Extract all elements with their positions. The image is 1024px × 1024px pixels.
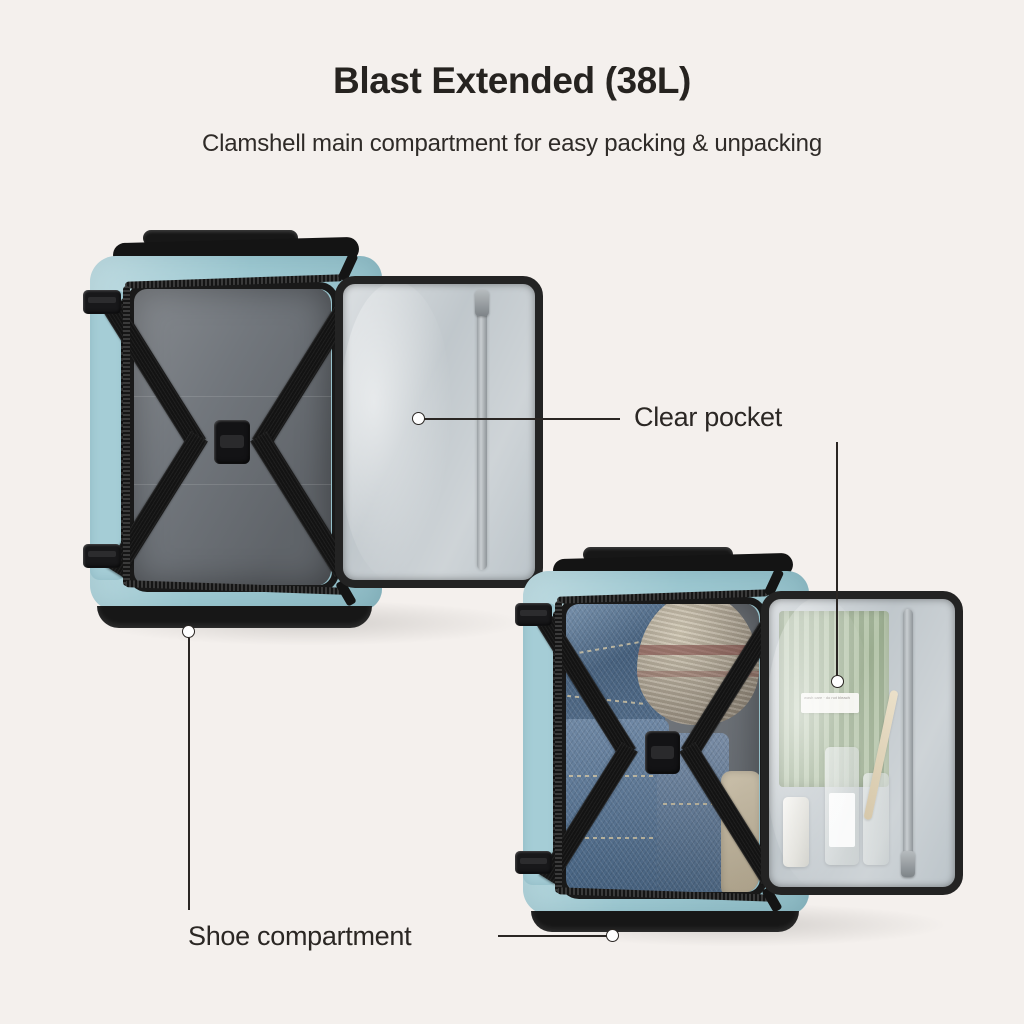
shoe-compartment[interactable] bbox=[531, 911, 799, 932]
bag-left-empty bbox=[85, 228, 540, 643]
compression-buckle-top-left[interactable] bbox=[83, 290, 121, 314]
clear-pocket-zipper[interactable] bbox=[903, 609, 913, 877]
shoe-compartment[interactable] bbox=[97, 606, 372, 628]
clear-pocket-leader-line-vertical bbox=[836, 442, 838, 682]
clear-pocket-zipper[interactable] bbox=[477, 296, 487, 570]
main-zipper-teeth-left[interactable] bbox=[123, 286, 130, 586]
callout-label-clear-pocket: Clear pocket bbox=[634, 402, 782, 433]
center-compression-buckle[interactable] bbox=[645, 731, 680, 774]
clear-pocket-leader-line-horizontal bbox=[424, 418, 620, 420]
compression-buckle-top-left[interactable] bbox=[515, 603, 552, 626]
callout-label-shoe-compartment: Shoe compartment bbox=[188, 921, 411, 952]
bag-right-packed: wash care · do not bleach bbox=[515, 545, 960, 945]
page-title: Blast Extended (38L) bbox=[0, 60, 1024, 102]
shoe-compartment-anchor-dot-left-bag bbox=[182, 625, 195, 638]
main-zipper-teeth-left[interactable] bbox=[555, 601, 562, 893]
shoe-compartment-leader-line-horizontal bbox=[498, 935, 610, 937]
compression-buckle-bottom-left[interactable] bbox=[515, 851, 552, 874]
compression-buckle-bottom-left[interactable] bbox=[83, 544, 121, 568]
clear-pocket-anchor-dot-right-bag bbox=[831, 675, 844, 688]
clear-pocket-rim bbox=[761, 591, 963, 895]
page-subtitle: Clamshell main compartment for easy pack… bbox=[0, 130, 1024, 158]
clear-pocket-rim bbox=[335, 276, 543, 588]
product-feature-image: Blast Extended (38L) Clamshell main comp… bbox=[0, 0, 1024, 1024]
shoe-compartment-anchor-dot-right-bag bbox=[606, 929, 619, 942]
clear-pocket-zipper-pull[interactable] bbox=[901, 851, 915, 877]
clear-pocket-zipper-pull[interactable] bbox=[475, 290, 489, 316]
center-compression-buckle[interactable] bbox=[214, 420, 250, 464]
shoe-compartment-leader-line-vertical bbox=[188, 638, 190, 910]
